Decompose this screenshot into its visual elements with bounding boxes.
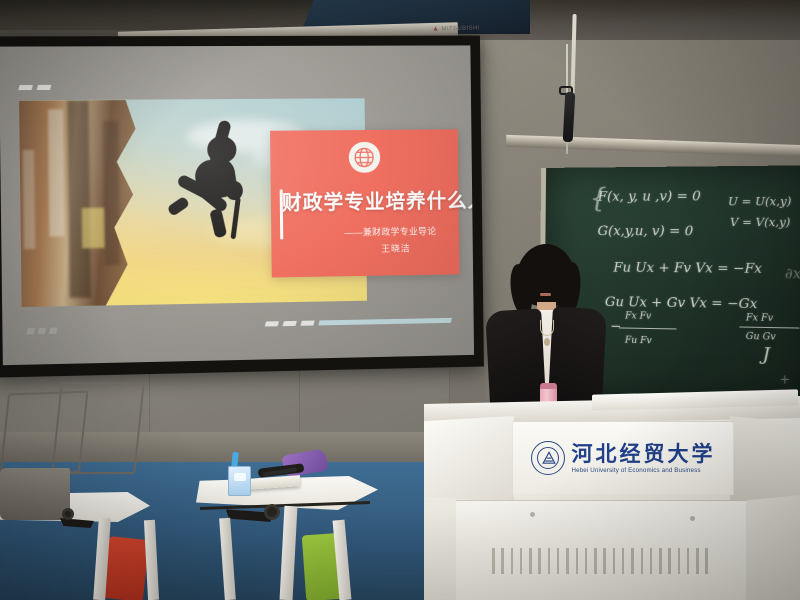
chalk-faint-mark: ∂x <box>785 266 800 283</box>
pendant <box>544 338 550 346</box>
podium-vents <box>492 548 708 574</box>
chair-back-red <box>103 536 149 600</box>
tissue-box <box>228 466 251 496</box>
podium-front-panel: 河北经贸大学 Hebei University of Economics and… <box>512 421 734 495</box>
chair-frame-left-2 <box>51 382 145 474</box>
control-icon[interactable] <box>37 328 46 334</box>
control-icon[interactable] <box>26 328 35 334</box>
dash <box>18 85 33 90</box>
projector-brand-logo: ▲ MITSUBISHI <box>425 23 487 35</box>
podium-side-left <box>424 416 514 502</box>
slide-progress-indicator <box>265 318 451 327</box>
progress-bar <box>318 318 452 326</box>
classroom-scene: ▲ MITSUBISHI F(x, y, u ,v) = 0 { G(x,y,u… <box>0 0 800 600</box>
hair <box>516 244 576 306</box>
screen-surface: 财政学专业培养什么人？ ——兼财政学专业导论 王晓洁 <box>0 45 474 365</box>
projection-screen: 财政学专业培养什么人？ ——兼财政学专业导论 王晓洁 <box>0 36 484 378</box>
desk-wheel <box>264 504 280 520</box>
chalk-equation: Gu Ux + Gv Vx = −Gx <box>605 295 758 312</box>
dash <box>37 85 52 90</box>
chalk-matrix: Gu Gv <box>746 332 776 343</box>
chalk-equation: V = V(x,y) <box>730 216 791 230</box>
slide-dash-group-top <box>19 85 51 90</box>
slide-subtitle: ——兼财政学专业导论 <box>271 224 437 239</box>
university-seal-icon <box>531 441 565 475</box>
university-name-en: Hebei University of Economics and Busine… <box>572 467 716 474</box>
chalk-brace: { <box>590 184 607 214</box>
presentation-slide: 财政学专业培养什么人？ ——兼财政学专业导论 王晓洁 <box>0 45 474 365</box>
chalk-faint-mark: + <box>779 372 790 387</box>
university-name-cn: 河北经贸大学 <box>572 443 716 464</box>
control-icon[interactable] <box>48 327 57 333</box>
chalk-matrix: Fx Fv <box>746 313 773 324</box>
university-name-block: 河北经贸大学 Hebei University of Economics and… <box>572 443 716 474</box>
desk-wheel <box>62 508 74 520</box>
dash <box>300 321 314 326</box>
screw <box>530 512 535 517</box>
screw <box>690 516 695 521</box>
slide-title-panel: 财政学专业培养什么人？ ——兼财政学专业导论 王晓洁 <box>270 129 460 278</box>
presenter-controls[interactable] <box>27 328 57 335</box>
chalk-fraction-bar <box>619 327 677 329</box>
chalk-equation: U = U(x,y) <box>728 195 791 209</box>
chalk-equation: G(x,y,u, v) = 0 <box>597 224 693 239</box>
chalk-equation: Fu Ux + Fv Vx = −Fx <box>613 260 762 277</box>
chalk-fraction-bar <box>739 326 799 328</box>
chair-seat-left <box>0 468 70 520</box>
climber-silhouette <box>159 120 278 260</box>
slide-title: 财政学专业培养什么人？ <box>282 192 455 214</box>
podium-side-right <box>730 416 800 502</box>
slide-author: 王晓洁 <box>271 242 411 257</box>
chalk-jacobian: J <box>762 345 770 366</box>
necklace <box>540 320 554 336</box>
globe-icon <box>349 141 380 173</box>
chalk-matrix: Fx Fv <box>625 311 651 322</box>
mouth <box>540 293 551 296</box>
cliff-rock <box>19 100 183 308</box>
chalk-equation: F(x, y, u ,v) = 0 <box>598 189 701 205</box>
thermos-cap <box>540 383 557 389</box>
chalk-matrix: Fu Fv <box>625 336 652 347</box>
dash <box>282 321 296 326</box>
dash <box>264 322 278 327</box>
